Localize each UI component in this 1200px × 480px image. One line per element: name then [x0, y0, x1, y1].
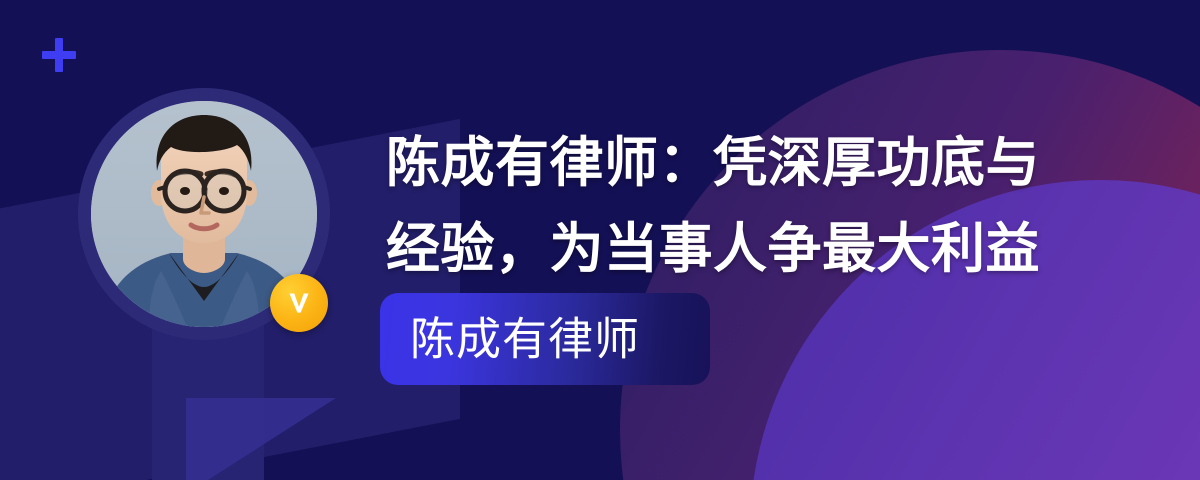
plus-ornament-icon [42, 38, 76, 72]
background-triangle-accent [186, 398, 336, 480]
page-title: 陈成有律师：凭深厚功底与经验，为当事人争最大利益 [386, 120, 1076, 292]
avatar[interactable] [78, 88, 330, 340]
lawyer-profile-banner: 陈成有律师 陈成有律师：凭深厚功底与经验，为当事人争最大利益 [0, 0, 1200, 480]
name-badge-label: 陈成有律师 [410, 317, 640, 362]
name-badge[interactable]: 陈成有律师 [380, 293, 710, 385]
verified-v-icon [270, 274, 328, 332]
